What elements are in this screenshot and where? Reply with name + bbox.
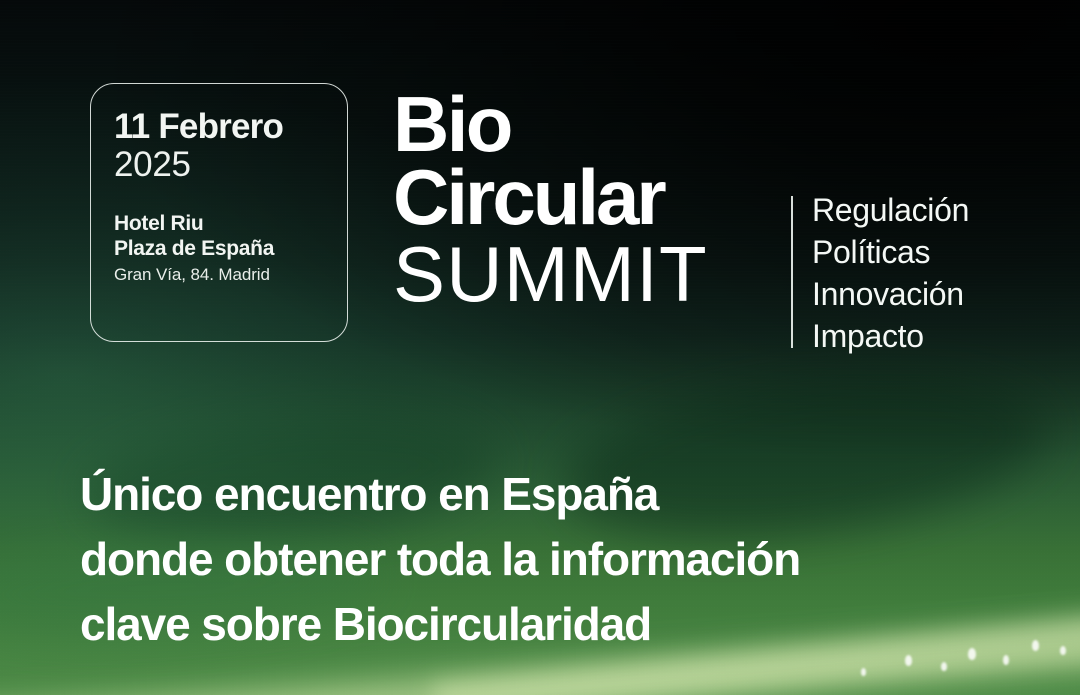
tagline-line: clave sobre Biocircularidad (80, 592, 980, 657)
theme-keyword: Impacto (812, 316, 969, 358)
event-title-line-bio: Bio (393, 88, 708, 161)
venue-address: Gran Vía, 84. Madrid (114, 265, 347, 285)
vertical-divider (791, 196, 793, 348)
theme-keyword: Políticas (812, 232, 969, 274)
tagline-line: donde obtener toda la información (80, 527, 980, 592)
event-title-line-summit: SUMMIT (393, 235, 708, 315)
venue-name-line1: Hotel Riu (114, 212, 347, 236)
event-title: Bio Circular SUMMIT (393, 88, 708, 315)
theme-keyword: Innovación (812, 274, 969, 316)
venue-block: Hotel Riu Plaza de España Gran Vía, 84. … (114, 212, 347, 285)
theme-keyword: Regulación (812, 190, 969, 232)
event-date-day: 11 Febrero (114, 109, 347, 145)
event-title-line-circular: Circular (393, 161, 708, 234)
theme-keyword-list: Regulación Políticas Innovación Impacto (812, 190, 969, 358)
event-poster: 11 Febrero 2025 Hotel Riu Plaza de Españ… (0, 0, 1080, 695)
tagline-line: Único encuentro en España (80, 462, 980, 527)
venue-name-line2: Plaza de España (114, 237, 347, 261)
tagline: Único encuentro en España donde obtener … (80, 462, 980, 657)
event-date-year: 2025 (114, 146, 347, 184)
date-venue-card: 11 Febrero 2025 Hotel Riu Plaza de Españ… (90, 83, 348, 342)
